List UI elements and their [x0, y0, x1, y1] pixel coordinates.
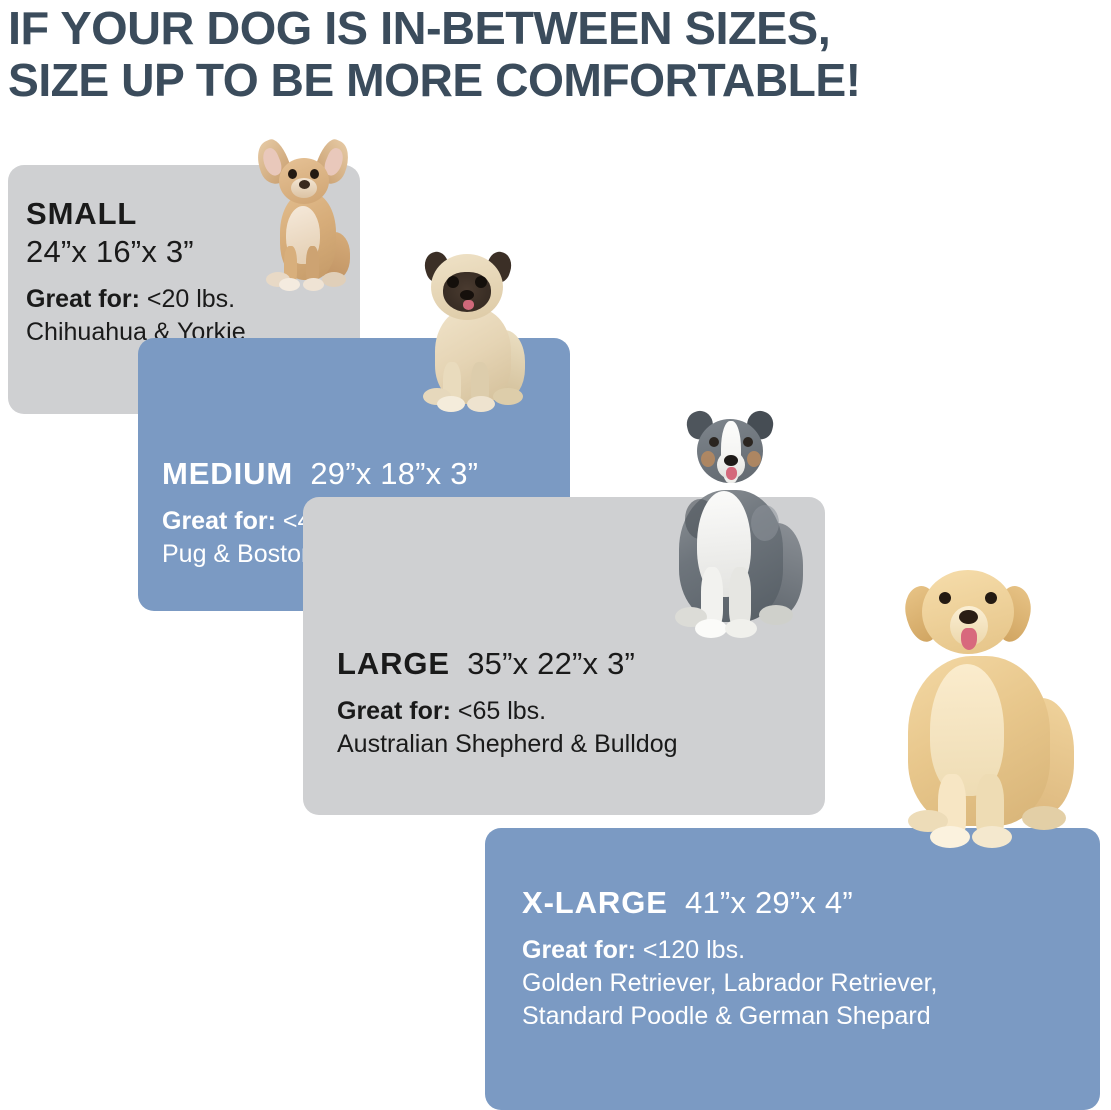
great-for-large: Great for: <65 lbs.: [337, 695, 678, 728]
dog-nose: [460, 290, 474, 300]
dog-hind-paw-right: [322, 272, 346, 287]
size-label-large: LARGE: [337, 646, 450, 681]
size-dimensions-medium: 29”x 18”x 3”: [310, 456, 478, 491]
dog-eye-left: [709, 437, 719, 447]
headline-line-1: If your dog is in-between sizes,: [8, 2, 1111, 54]
dog-front-paw-left: [930, 826, 970, 848]
great-for-xlarge: Great for: <120 lbs.: [522, 934, 938, 967]
size-card-small-body: SMALL 24”x 16”x 3” Great for: <20 lbs. C…: [26, 195, 246, 349]
dog-tan-marking-right: [747, 451, 761, 467]
size-card-large-heading: LARGE 35”x 22”x 3”: [337, 645, 678, 683]
size-card-xlarge-heading: X-LARGE 41”x 29”x 4”: [522, 884, 938, 922]
dog-hind-paw-right: [1022, 806, 1066, 830]
dog-front-paw-right: [467, 396, 495, 412]
size-label-xlarge: X-LARGE: [522, 885, 668, 920]
great-for-label-small: Great for:: [26, 285, 140, 313]
size-card-large-body: LARGE 35”x 22”x 3” Great for: <65 lbs. A…: [337, 645, 678, 761]
australian-shepherd-dog-photo: [655, 395, 815, 645]
size-dimensions-large: 35”x 22”x 3”: [467, 646, 635, 681]
size-dimensions-small: 24”x 16”x 3”: [26, 233, 246, 271]
dog-nose: [724, 455, 738, 466]
size-label-medium: MEDIUM: [162, 456, 293, 491]
dog-eye-left: [939, 592, 951, 604]
dog-eye-left: [447, 276, 459, 288]
dog-front-paw-right: [972, 826, 1012, 848]
dog-front-paw-right: [303, 278, 324, 291]
size-label-small: SMALL: [26, 195, 246, 233]
breeds-large: Australian Shepherd & Bulldog: [337, 728, 678, 761]
dog-tongue: [463, 300, 474, 310]
dog-tongue: [726, 467, 737, 480]
great-for-label-large: Great for:: [337, 697, 451, 725]
dog-eye-left: [288, 169, 297, 179]
weight-xlarge: <120 lbs.: [643, 936, 745, 964]
dog-hind-paw-right: [493, 388, 523, 405]
chihuahua-dog-photo: [246, 140, 368, 292]
dog-eye-right: [475, 276, 487, 288]
size-card-xlarge-body: X-LARGE 41”x 29”x 4” Great for: <120 lbs…: [522, 884, 938, 1033]
dog-hind-paw-right: [759, 605, 793, 625]
dog-eye-right: [985, 592, 997, 604]
dog-front-paw-left: [279, 278, 300, 291]
size-card-small-heading: SMALL 24”x 16”x 3”: [26, 195, 246, 271]
dog-eye-right: [310, 169, 319, 179]
page-title: If your dog is in-between sizes, size up…: [8, 2, 1108, 106]
dog-tongue: [961, 628, 977, 650]
golden-retriever-dog-photo: [882, 548, 1094, 848]
great-for-small: Great for: <20 lbs.: [26, 283, 246, 316]
great-for-label-xlarge: Great for:: [522, 936, 636, 964]
breeds-xlarge-line-2: Standard Poodle & German Shepard: [522, 1000, 938, 1033]
dog-front-paw-right: [725, 619, 757, 638]
dog-front-paw-left: [437, 396, 465, 412]
dog-tan-marking-left: [701, 451, 715, 467]
size-dimensions-xlarge: 41”x 29”x 4”: [685, 885, 853, 920]
dog-nose: [299, 180, 310, 189]
headline-line-2: size up to be more comfortable!: [8, 54, 1111, 106]
weight-large: <65 lbs.: [458, 697, 546, 725]
breeds-xlarge-line-1: Golden Retriever, Labrador Retriever,: [522, 967, 938, 1000]
dog-front-paw-left: [695, 619, 727, 638]
size-guide-infographic: If your dog is in-between sizes, size up…: [0, 0, 1111, 1110]
dog-nose: [959, 610, 978, 624]
pug-dog-photo: [405, 238, 540, 418]
size-card-xlarge: X-LARGE 41”x 29”x 4” Great for: <120 lbs…: [485, 828, 1100, 1110]
size-card-medium-heading: MEDIUM 29”x 18”x 3”: [162, 455, 478, 493]
weight-small: <20 lbs.: [147, 285, 235, 313]
dog-eye-right: [743, 437, 753, 447]
great-for-label-medium: Great for:: [162, 507, 276, 535]
dog-coat-patch-right: [751, 505, 779, 541]
